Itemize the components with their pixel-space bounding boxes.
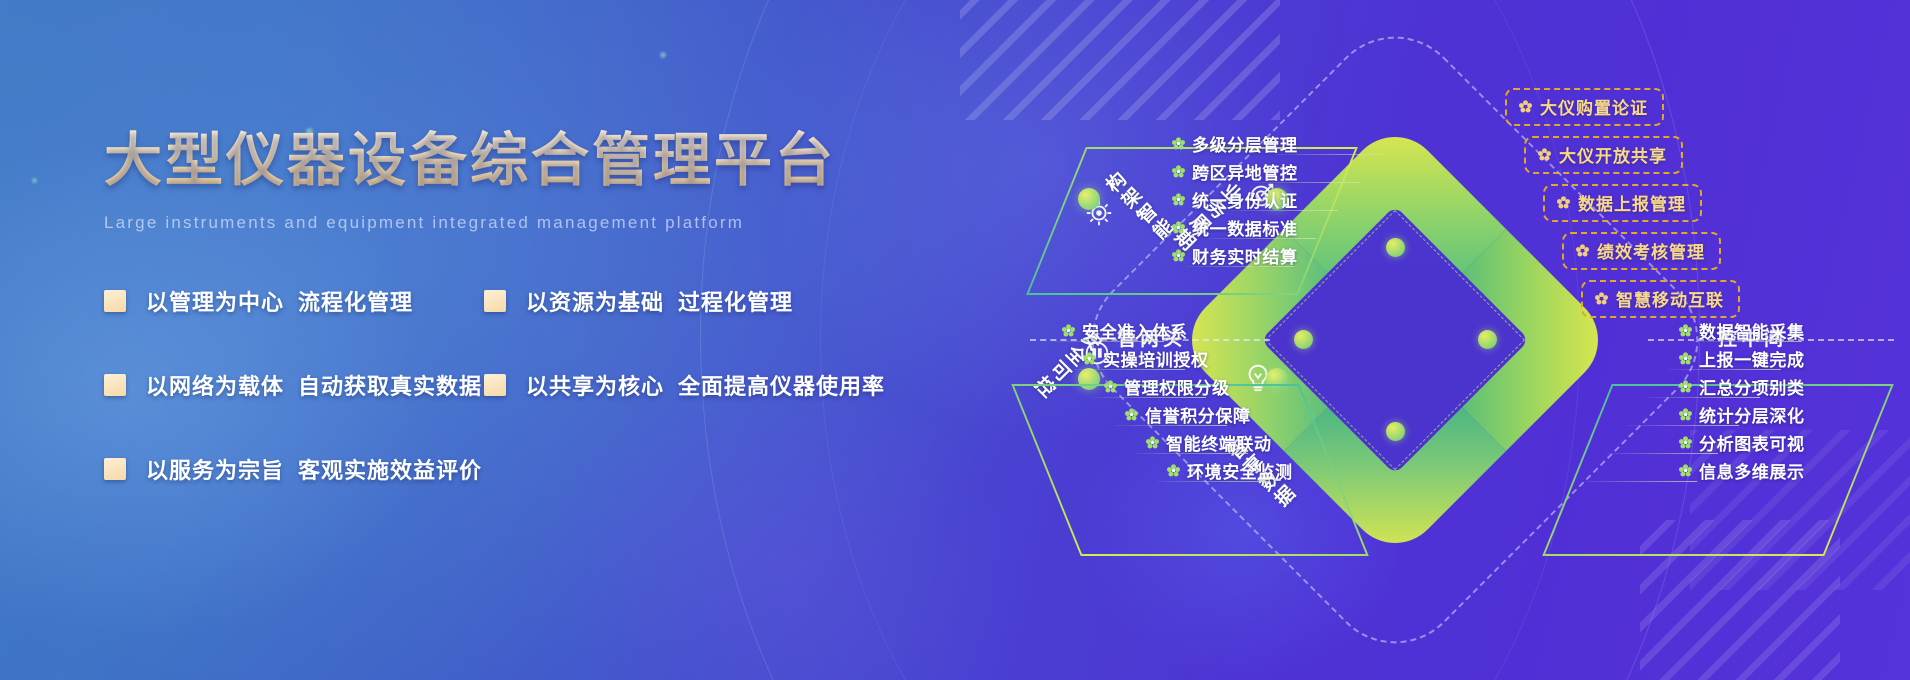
list-item[interactable]: 管理权限分级 — [1104, 372, 1230, 400]
flower-bullet-icon — [1083, 352, 1096, 365]
list-item[interactable]: 信息多维展示 — [1679, 456, 1805, 484]
feature-item[interactable]: 以网络为载体自动获取真实数据 — [104, 369, 484, 401]
diagram-node — [1478, 330, 1497, 349]
flower-bullet-icon — [1557, 196, 1570, 209]
list-rule — [1073, 369, 1185, 370]
background-speck — [660, 52, 666, 58]
square-bullet-icon — [104, 290, 126, 312]
flower-bullet-icon — [1062, 324, 1075, 337]
flower-bullet-icon — [1679, 352, 1692, 365]
flower-bullet-icon — [1576, 244, 1589, 257]
list-item-label: 环境安全监测 — [1187, 458, 1293, 483]
feature-list: 以管理为中心流程化管理 以资源为基础过程化管理 以网络为载体自动获取真实数据 以… — [104, 285, 974, 485]
hero-text-block: 大型仪器设备综合管理平台 Large instruments and equip… — [104, 126, 974, 485]
badge-item[interactable]: 大仪开放共享 — [1524, 136, 1683, 174]
list-bottom-right: 数据智能采集 上报一键完成 汇总分项别类 统计分层深化 分析图表可视 信息多维展… — [1574, 316, 1805, 484]
list-item-label: 信息多维展示 — [1699, 458, 1805, 483]
badge-label: 绩效考核管理 — [1597, 238, 1705, 263]
list-rule — [1627, 425, 1739, 426]
list-item[interactable]: 分析图表可视 — [1679, 428, 1805, 456]
flower-bullet-icon — [1679, 464, 1692, 477]
square-bullet-icon — [104, 374, 126, 396]
list-item[interactable]: 上报一键完成 — [1679, 344, 1805, 372]
list-rule — [1585, 481, 1697, 482]
list-item[interactable]: 汇总分项别类 — [1679, 372, 1805, 400]
list-item-label: 统一数据标准 — [1192, 215, 1298, 240]
list-rule — [1208, 238, 1316, 239]
badge-item[interactable]: 智慧移动互联 — [1581, 280, 1740, 318]
list-item-label: 统一身份认证 — [1192, 187, 1298, 212]
list-rule — [1690, 341, 1802, 342]
badge-item[interactable]: 大仪购置论证 — [1505, 88, 1664, 126]
flower-bullet-icon — [1679, 436, 1692, 449]
badge-label: 数据上报管理 — [1578, 190, 1686, 215]
page-title: 大型仪器设备综合管理平台 — [104, 126, 974, 197]
feature-item[interactable]: 以服务为宗旨客观实施效益评价 — [104, 453, 484, 485]
feature-item[interactable]: 以资源为基础过程化管理 — [484, 285, 974, 317]
flower-bullet-icon — [1172, 249, 1185, 262]
list-item-label: 实操培训授权 — [1103, 346, 1209, 371]
list-item[interactable]: 统计分层深化 — [1679, 400, 1805, 428]
flower-bullet-icon — [1104, 380, 1117, 393]
list-item[interactable]: 实操培训授权 — [1083, 344, 1209, 372]
list-rule — [1230, 210, 1338, 211]
list-item-label: 跨区异地管控 — [1192, 159, 1298, 184]
list-rule — [1094, 397, 1206, 398]
diagram-node — [1294, 330, 1313, 349]
flower-bullet-icon — [1172, 193, 1185, 206]
list-rule — [1052, 341, 1164, 342]
list-item[interactable]: 安全准入体系 — [1062, 316, 1188, 344]
square-bullet-icon — [104, 458, 126, 480]
feature-label: 以资源为基础过程化管理 — [526, 285, 793, 317]
list-item-label: 财务实时结算 — [1192, 243, 1298, 268]
flower-bullet-icon — [1172, 137, 1185, 150]
feature-item[interactable]: 以共享为核心全面提高仪器使用率 — [484, 369, 974, 401]
flower-bullet-icon — [1172, 221, 1185, 234]
flower-bullet-icon — [1167, 464, 1180, 477]
list-item[interactable]: 统一数据标准 — [1172, 213, 1298, 241]
list-item-label: 分析图表可视 — [1699, 430, 1805, 455]
badge-item[interactable]: 绩效考核管理 — [1562, 232, 1721, 270]
list-item[interactable]: 数据智能采集 — [1679, 316, 1805, 344]
diagram-node — [1386, 238, 1405, 257]
flower-bullet-icon — [1519, 100, 1532, 113]
list-rule — [1669, 369, 1781, 370]
list-rule — [1648, 397, 1760, 398]
list-top-left: 多级分层管理 跨区异地管控 统一身份认证 统一数据标准 财务实时结算 — [1086, 129, 1298, 269]
list-item[interactable]: 统一身份认证 — [1172, 185, 1298, 213]
list-item-label: 多级分层管理 — [1192, 131, 1298, 156]
flower-bullet-icon — [1172, 165, 1185, 178]
feature-label: 以共享为核心全面提高仪器使用率 — [526, 369, 885, 401]
list-rule — [1157, 481, 1269, 482]
list-item[interactable]: 跨区异地管控 — [1172, 157, 1298, 185]
list-item-label: 汇总分项别类 — [1699, 374, 1805, 399]
feature-label: 以网络为载体自动获取真实数据 — [146, 369, 482, 401]
flower-bullet-icon — [1679, 324, 1692, 337]
list-item-label: 智能终端联动 — [1166, 430, 1272, 455]
flower-bullet-icon — [1538, 148, 1551, 161]
square-bullet-icon — [484, 290, 506, 312]
list-rule — [1252, 182, 1360, 183]
list-item[interactable]: 财务实时结算 — [1172, 241, 1298, 269]
flower-bullet-icon — [1146, 436, 1159, 449]
list-item[interactable]: 智能终端联动 — [1146, 428, 1272, 456]
list-item-label: 安全准入体系 — [1082, 318, 1188, 343]
diagram-node — [1386, 422, 1405, 441]
badge-label: 大仪开放共享 — [1559, 142, 1667, 167]
list-rule — [1274, 154, 1382, 155]
list-item[interactable]: 多级分层管理 — [1172, 129, 1298, 157]
flower-bullet-icon — [1679, 380, 1692, 393]
list-item-label: 统计分层深化 — [1699, 402, 1805, 427]
badge-item[interactable]: 数据上报管理 — [1543, 184, 1702, 222]
feature-label: 以管理为中心流程化管理 — [146, 285, 413, 317]
list-item[interactable]: 信誉积分保障 — [1125, 400, 1251, 428]
list-rule — [1606, 453, 1718, 454]
square-bullet-icon — [484, 374, 506, 396]
feature-item[interactable]: 以管理为中心流程化管理 — [104, 285, 484, 317]
flower-bullet-icon — [1125, 408, 1138, 421]
banner-root: 大型仪器设备综合管理平台 Large instruments and equip… — [0, 0, 1910, 680]
badge-label: 智慧移动互联 — [1616, 286, 1724, 311]
list-bottom-left: 安全准入体系 实操培训授权 管理权限分级 信誉积分保障 智能终端联动 环境安全监… — [1062, 316, 1293, 484]
badge-label: 大仪购置论证 — [1540, 94, 1648, 119]
list-item[interactable]: 环境安全监测 — [1167, 456, 1293, 484]
flower-bullet-icon — [1679, 408, 1692, 421]
feature-label: 以服务为宗旨客观实施效益评价 — [146, 453, 482, 485]
flower-bullet-icon — [1595, 292, 1608, 305]
list-rule — [1136, 453, 1248, 454]
list-rule — [1115, 425, 1227, 426]
background-speck — [32, 178, 37, 183]
badge-list-top-right: 大仪购置论证 大仪开放共享 数据上报管理 绩效考核管理 智慧移动互联 — [1505, 88, 1740, 318]
list-item-label: 数据智能采集 — [1699, 318, 1805, 343]
list-item-label: 管理权限分级 — [1124, 374, 1230, 399]
list-item-label: 上报一键完成 — [1699, 346, 1805, 371]
page-subtitle: Large instruments and equipment integrat… — [104, 213, 974, 233]
list-rule — [1186, 266, 1294, 267]
list-item-label: 信誉积分保障 — [1145, 402, 1251, 427]
